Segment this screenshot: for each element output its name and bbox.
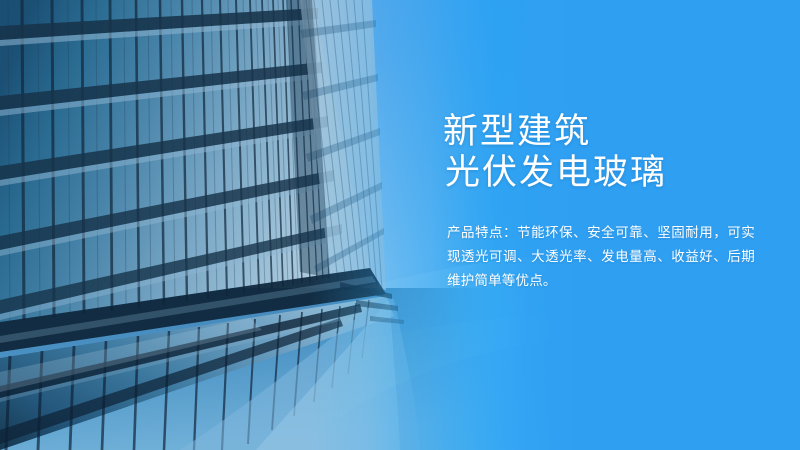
product-banner: 新型建筑 光伏发电玻璃 产品特点：节能环保、安全可靠、坚固耐用，可实现透光可调、… — [0, 0, 800, 450]
page-title-line-1: 新型建筑 — [443, 112, 763, 153]
product-features-description: 产品特点：节能环保、安全可靠、坚固耐用，可实现透光可调、大透光率、发电量高、收益… — [443, 194, 755, 293]
banner-text-block: 新型建筑 光伏发电玻璃 产品特点：节能环保、安全可靠、坚固耐用，可实现透光可调、… — [443, 112, 763, 293]
page-title-line-2: 光伏发电玻璃 — [445, 153, 763, 194]
